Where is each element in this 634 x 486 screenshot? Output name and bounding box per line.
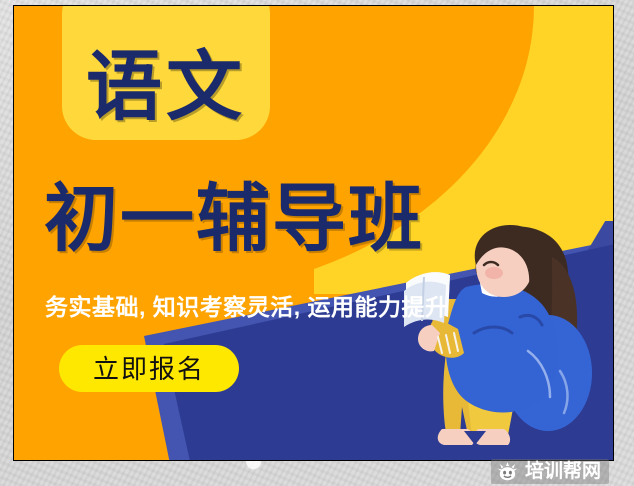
subject-badge: 语文 bbox=[62, 5, 270, 140]
watermark-text: 培训帮网 bbox=[525, 462, 601, 481]
subject-badge-label: 语文 bbox=[86, 50, 246, 126]
sun-face-icon bbox=[497, 462, 518, 481]
headline: 初一辅导班 bbox=[44, 172, 464, 266]
enroll-now-button[interactable]: 立即报名 bbox=[59, 345, 239, 392]
course-promo-banner: 语文 初一辅导班 务实基础, 知识考察灵活, 运用能力提升 立即报名 bbox=[13, 5, 614, 461]
enroll-now-label: 立即报名 bbox=[93, 356, 205, 382]
watermark: 培训帮网 bbox=[491, 459, 609, 484]
subtitle-text: 务实基础, 知识考察灵活, 运用能力提升 bbox=[45, 296, 449, 319]
page-root: 语文 初一辅导班 务实基础, 知识考察灵活, 运用能力提升 立即报名 bbox=[0, 0, 634, 486]
subtitle: 务实基础, 知识考察灵活, 运用能力提升 bbox=[45, 292, 505, 322]
headline-text: 初一辅导班 bbox=[44, 182, 424, 256]
